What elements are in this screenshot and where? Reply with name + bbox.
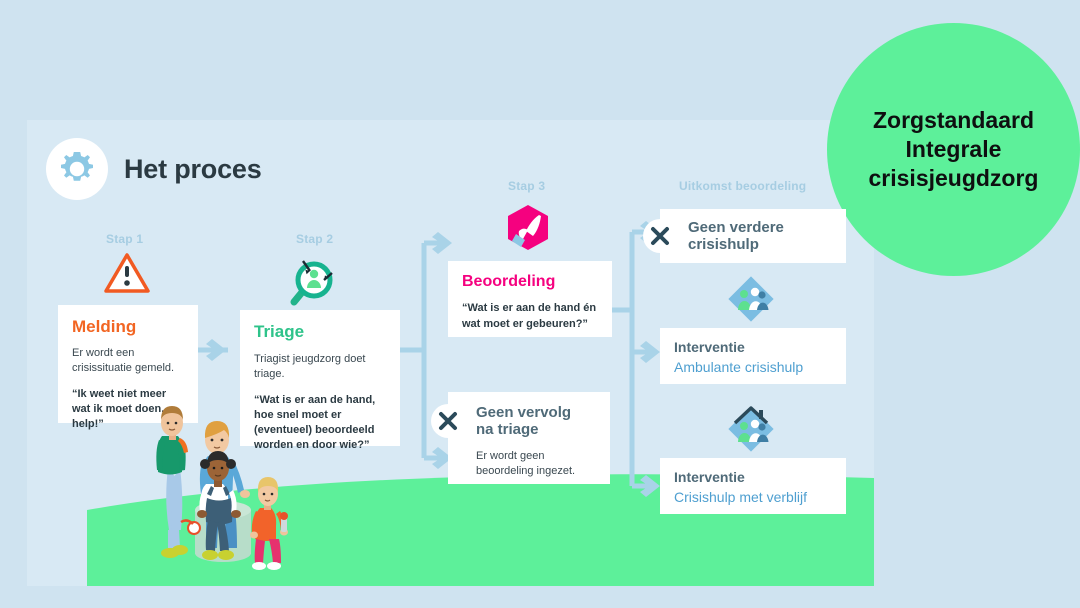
card-geen-vervolg-title: Geen vervolg na triage <box>476 404 596 439</box>
card-interventie-verblijf-title: Interventie <box>674 469 832 485</box>
card-melding-title: Melding <box>72 317 184 337</box>
magnifier-person-icon <box>286 254 342 310</box>
card-triage-title: Triage <box>254 322 386 342</box>
page-header: Het proces <box>46 138 262 200</box>
card-melding-body: Er wordt een crisissituatie gemeld. <box>72 346 184 376</box>
infographic-canvas: Het proces Zorgstandaard Integrale crisi… <box>0 0 1080 608</box>
card-geen-verdere-crisishulp: Geen verdere crisishulp <box>660 209 846 263</box>
card-geen-vervolg-body: Er wordt geen beoordeling ingezet. <box>476 449 596 479</box>
warning-triangle-icon <box>104 252 150 294</box>
outcome-label: Uitkomst beoordeling <box>679 179 806 193</box>
card-triage-body: Triagist jeugdzorg doet triage. <box>254 352 386 382</box>
step-label-2: Stap 2 <box>296 232 333 246</box>
x-icon <box>643 219 677 253</box>
step-label-1: Stap 1 <box>106 232 143 246</box>
step-label-3: Stap 3 <box>508 179 545 193</box>
card-beoordeling-title: Beoordeling <box>462 273 598 291</box>
card-interventie-ambulant: Interventie Ambulante crisishulp <box>660 328 846 384</box>
family-illustration <box>150 398 310 583</box>
card-geen-verdere-title: Geen verdere crisishulp <box>688 219 832 254</box>
card-interventie-ambulant-title: Interventie <box>674 339 832 355</box>
card-geen-vervolg-title-line2: na triage <box>476 421 596 438</box>
x-icon <box>431 404 465 438</box>
card-interventie-verblijf-subtitle: Crisishulp met verblijf <box>674 489 832 505</box>
card-interventie-verblijf: Interventie Crisishulp met verblijf <box>660 458 846 514</box>
card-interventie-ambulant-subtitle: Ambulante crisishulp <box>674 359 832 375</box>
card-beoordeling: Beoordeling “Wat is er aan de hand én wa… <box>448 261 612 337</box>
page-title: Het proces <box>124 154 262 185</box>
card-geen-vervolg: Geen vervolg na triage Er wordt geen beo… <box>448 392 610 484</box>
card-geen-verdere-title-line1: Geen verdere <box>688 219 832 236</box>
house-people-diamond-icon <box>724 402 778 456</box>
brand-badge: Zorgstandaard Integrale crisisjeugdzorg <box>827 23 1080 276</box>
brand-title: Zorgstandaard Integrale crisisjeugdzorg <box>855 106 1053 192</box>
card-geen-vervolg-title-line1: Geen vervolg <box>476 404 596 421</box>
hand-care-hexagon-icon <box>503 203 553 253</box>
card-beoordeling-quote: “Wat is er aan de hand én wat moet er ge… <box>462 301 598 331</box>
gear-icon <box>46 138 108 200</box>
people-diamond-icon <box>724 272 778 326</box>
card-geen-verdere-title-line2: crisishulp <box>688 236 832 253</box>
